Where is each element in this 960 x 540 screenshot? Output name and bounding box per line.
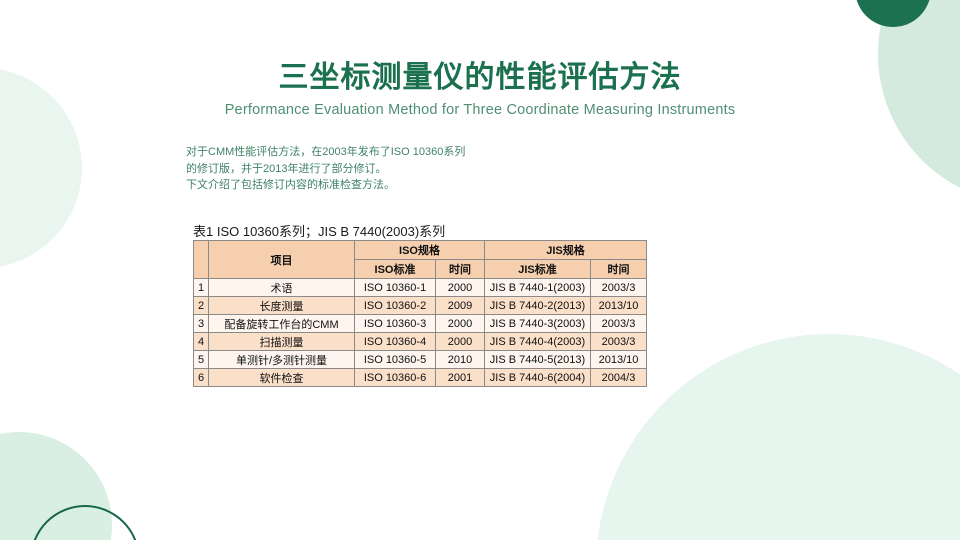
- cell-jis-standard: JIS B 7440-1(2003): [485, 279, 591, 297]
- cell-item: 单测针/多测针测量: [209, 351, 355, 369]
- cell-iso-standard: ISO 10360-3: [355, 315, 436, 333]
- cell-jis-time: 2004/3: [591, 369, 647, 387]
- cell-jis-time: 2003/3: [591, 315, 647, 333]
- intro-line-1: 对于CMM性能评估方法，在2003年发布了ISO 10360系列: [186, 144, 465, 161]
- header-jis-group: JIS规格: [485, 241, 647, 260]
- cell-item: 软件检查: [209, 369, 355, 387]
- cell-iso-time: 2001: [436, 369, 485, 387]
- cell-index: 3: [194, 315, 209, 333]
- header-jis-time: 时间: [591, 260, 647, 279]
- slide-subtitle: Performance Evaluation Method for Three …: [0, 102, 960, 118]
- cell-jis-time: 2013/10: [591, 297, 647, 315]
- cell-iso-standard: ISO 10360-5: [355, 351, 436, 369]
- table-header-row-group: 项目 ISO规格 JIS规格: [194, 241, 647, 260]
- table-row: 4 扫描测量 ISO 10360-4 2000 JIS B 7440-4(200…: [194, 333, 647, 351]
- slide-title: 三坐标测量仪的性能评估方法: [0, 52, 960, 96]
- standards-table: 项目 ISO规格 JIS规格 ISO标准 时间 JIS标准 时间 1 术语 IS…: [193, 240, 647, 387]
- slide-canvas: 三坐标测量仪的性能评估方法 Performance Evaluation Met…: [0, 0, 960, 540]
- table-caption: 表1 ISO 10360系列；JIS B 7440(2003)系列: [193, 221, 445, 240]
- cell-iso-time: 2009: [436, 297, 485, 315]
- cell-index: 6: [194, 369, 209, 387]
- table-row: 1 术语 ISO 10360-1 2000 JIS B 7440-1(2003)…: [194, 279, 647, 297]
- cell-index: 1: [194, 279, 209, 297]
- cell-item: 术语: [209, 279, 355, 297]
- cell-jis-time: 2003/3: [591, 279, 647, 297]
- header-jis-standard: JIS标准: [485, 260, 591, 279]
- cell-iso-standard: ISO 10360-4: [355, 333, 436, 351]
- header-iso-standard: ISO标准: [355, 260, 436, 279]
- cell-jis-standard: JIS B 7440-3(2003): [485, 315, 591, 333]
- table-row: 3 配备旋转工作台的CMM ISO 10360-3 2000 JIS B 744…: [194, 315, 647, 333]
- table-body: 1 术语 ISO 10360-1 2000 JIS B 7440-1(2003)…: [194, 279, 647, 387]
- cell-index: 2: [194, 297, 209, 315]
- cell-jis-standard: JIS B 7440-4(2003): [485, 333, 591, 351]
- cell-iso-time: 2000: [436, 333, 485, 351]
- cell-index: 5: [194, 351, 209, 369]
- intro-line-2: 的修订版，并于2013年进行了部分修订。: [186, 161, 465, 178]
- header-index: [194, 241, 209, 279]
- header-iso-group: ISO规格: [355, 241, 485, 260]
- table-row: 2 长度测量 ISO 10360-2 2009 JIS B 7440-2(201…: [194, 297, 647, 315]
- table-head: 项目 ISO规格 JIS规格 ISO标准 时间 JIS标准 时间: [194, 241, 647, 279]
- intro-paragraph: 对于CMM性能评估方法，在2003年发布了ISO 10360系列 的修订版，并于…: [186, 144, 465, 194]
- cell-jis-standard: JIS B 7440-6(2004): [485, 369, 591, 387]
- table-row: 6 软件检查 ISO 10360-6 2001 JIS B 7440-6(200…: [194, 369, 647, 387]
- cell-item: 长度测量: [209, 297, 355, 315]
- cell-iso-standard: ISO 10360-1: [355, 279, 436, 297]
- intro-line-3: 下文介绍了包括修订内容的标准检查方法。: [186, 177, 465, 194]
- cell-iso-time: 2000: [436, 315, 485, 333]
- cell-jis-time: 2003/3: [591, 333, 647, 351]
- header-item: 项目: [209, 241, 355, 279]
- cell-iso-time: 2010: [436, 351, 485, 369]
- cell-iso-standard: ISO 10360-6: [355, 369, 436, 387]
- cell-jis-standard: JIS B 7440-5(2013): [485, 351, 591, 369]
- cell-iso-standard: ISO 10360-2: [355, 297, 436, 315]
- cell-jis-standard: JIS B 7440-2(2013): [485, 297, 591, 315]
- cell-index: 4: [194, 333, 209, 351]
- cell-item: 扫描测量: [209, 333, 355, 351]
- cell-jis-time: 2013/10: [591, 351, 647, 369]
- table-row: 5 单测针/多测针测量 ISO 10360-5 2010 JIS B 7440-…: [194, 351, 647, 369]
- header-iso-time: 时间: [436, 260, 485, 279]
- cell-iso-time: 2000: [436, 279, 485, 297]
- cell-item: 配备旋转工作台的CMM: [209, 315, 355, 333]
